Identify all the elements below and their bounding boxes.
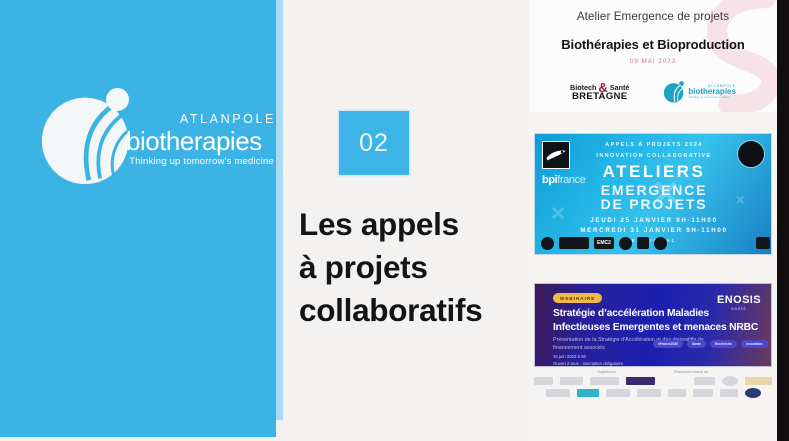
sponsor-row-2: [534, 388, 772, 398]
ab-tagline: Thinking up tomorrow's medicine: [688, 96, 736, 99]
sponsor-logo: [668, 389, 686, 397]
document-title: Biothérapies et Bioproduction: [529, 37, 777, 52]
document-logo-row: Biotech & Santé BRETAGNE ATLANPOLE: [529, 76, 777, 108]
document-header: Atelier Emergence de projets Biothérapie…: [529, 0, 777, 112]
sponsor-logo: [590, 377, 619, 385]
sponsor-logo: [693, 389, 713, 397]
card1-kicker-2: INNOVATION COLLABORATIVE: [535, 153, 772, 159]
poster-card-webinaire[interactable]: WEBINAIRE Stratégie d’accélération Malad…: [534, 283, 772, 367]
sponsor-logo: [694, 377, 715, 385]
card2-subtitle-2: financement associés: [553, 345, 605, 351]
partner-logo: [619, 237, 632, 250]
card1-subtitle-2: DE PROJETS: [535, 196, 772, 212]
atlanpole-wordmark: ATLANPOLE biotherapies Thinking up tomor…: [126, 112, 276, 168]
poster-card-ateliers[interactable]: × × × bpifrance APPELS À PROJETS 2024 IN…: [534, 133, 772, 255]
sponsor-logo: [637, 389, 661, 397]
slide-canvas: ATLANPOLE biotherapies Thinking up tomor…: [0, 0, 789, 441]
card2-meta-access: Ouvert à tous - inscription obligatoire: [553, 361, 623, 366]
page-title: Les appels à projets collaboratifs: [299, 203, 534, 332]
document-eyebrow: Atelier Emergence de projets: [529, 10, 777, 23]
section-number-badge: 02: [339, 111, 409, 175]
partner-logo: [756, 237, 770, 249]
headline-line-2: à projets: [299, 246, 534, 289]
brand-panel: ATLANPOLE biotherapies Thinking up tomor…: [0, 0, 276, 437]
sponsor-logo: [720, 389, 738, 397]
sponsor-logo: [577, 389, 599, 397]
bsb-sante-label: Santé: [610, 84, 630, 91]
sponsor-logo: [745, 388, 761, 398]
atlanpole-sphere-small-icon: [663, 81, 685, 103]
sponsor-label-right: Financement assuré par: [674, 370, 708, 374]
sponsor-row-1: [534, 376, 772, 386]
sponsor-logo: [745, 377, 772, 385]
atlanpole-eyebrow: ATLANPOLE: [126, 112, 276, 126]
partner-logo: [654, 237, 667, 250]
enosis-logo: ENOSIS santé: [717, 294, 761, 311]
partner-logo: EMC2: [594, 237, 614, 249]
card2-title-1: Stratégie d’accélération Maladies: [553, 308, 709, 319]
document-date: 09 MAI 2023: [529, 58, 777, 65]
sponsor-logo: [534, 377, 553, 385]
atlanpole-logo: ATLANPOLE biotherapies Thinking up tomor…: [18, 88, 268, 198]
enosis-sub: santé: [717, 306, 761, 311]
sponsor-logo: [626, 377, 655, 385]
sponsor-logo: [560, 377, 583, 385]
partner-logo: [711, 237, 751, 249]
sponsor-logo: [546, 389, 570, 397]
right-letterbox-edge: [777, 0, 789, 441]
section-intro: 02 Les appels à projets collaboratifs: [283, 0, 529, 441]
card1-date-1: JEUDI 25 JANVIER 9H-11H00: [535, 217, 772, 224]
partner-logo: [672, 237, 706, 249]
card1-partner-logos: EMC2: [535, 234, 772, 252]
atlanpole-biotherapies-logo: ATLANPOLE biotherapies Thinking up tomor…: [663, 81, 736, 103]
card2-meta-date: 16 juin 2023 à 9h: [553, 354, 586, 359]
card2-tag: Innovation: [741, 340, 768, 348]
bsb-bretagne-label: BRETAGNE: [572, 92, 628, 102]
headline-line-1: Les appels: [299, 203, 534, 246]
atlanpole-dot-icon: [106, 88, 129, 111]
atlanpole-tagline: Thinking up tomorrow's medicine: [126, 156, 276, 168]
headline-line-3: collaboratifs: [299, 289, 534, 332]
card2-tag: Santé: [687, 340, 706, 348]
card2-badge: WEBINAIRE: [553, 293, 602, 303]
card2-tag: #France2030: [653, 340, 683, 348]
atlanpole-name: biotherapies: [126, 126, 276, 156]
partner-logo: [637, 237, 649, 249]
panel-accent-stripe: [276, 0, 283, 420]
sponsor-strip: Organisé par Financement assuré par: [534, 370, 772, 410]
sponsor-logo: [722, 376, 738, 386]
bsb-biotech-label: Biotech: [570, 84, 596, 91]
partner-logo: [559, 237, 589, 249]
card2-tag-list: #France2030 Santé Recherche Innovation: [653, 340, 768, 348]
sponsor-label-left: Organisé par: [598, 370, 616, 374]
document-preview: Atelier Emergence de projets Biothérapie…: [529, 0, 777, 441]
enosis-name: ENOSIS: [717, 294, 761, 306]
sponsor-logo: [606, 389, 630, 397]
biotech-sante-bretagne-logo: Biotech & Santé BRETAGNE: [570, 83, 629, 102]
card1-title: ATELIERS: [535, 162, 772, 182]
card2-tag: Recherche: [710, 340, 737, 348]
partner-logo: [541, 237, 554, 250]
card1-kicker-1: APPELS À PROJETS 2024: [535, 142, 772, 148]
card2-title-2: Infectieuses Emergentes et menaces NRBC: [553, 322, 758, 333]
card1-date-2: MERCREDI 31 JANVIER 9H-11H00: [535, 227, 772, 234]
